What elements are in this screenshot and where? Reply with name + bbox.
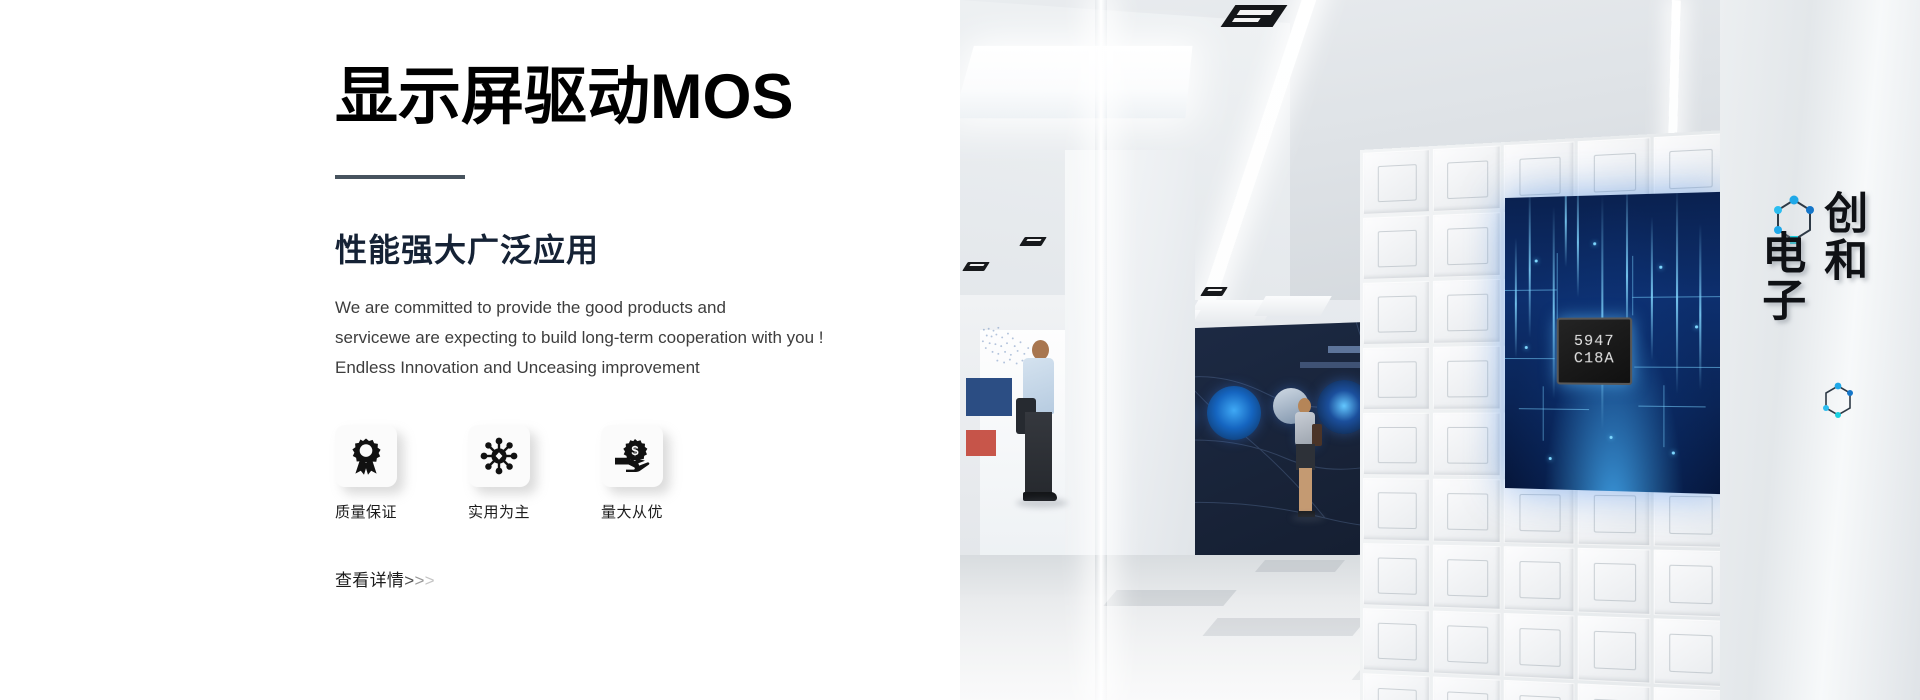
description-line-3: Endless Innovation and Unceasing improve… [335,353,915,383]
person-head [1032,340,1049,360]
feature-item-quality[interactable]: 质量保证 [335,425,410,522]
description-line-2: servicewe are expecting to build long-te… [335,323,915,353]
relief-brick [1363,478,1430,541]
floor-tile [1255,560,1345,572]
relief-brick [1504,613,1574,680]
relief-brick [1504,546,1574,612]
chevron-right-icon-3: > [425,571,435,590]
award-badge-icon [348,437,384,475]
wall-info-board-red [966,430,996,456]
relief-brick [1504,680,1574,700]
svg-text:$: $ [631,443,639,458]
chip-label-line-2: C18A [1574,351,1615,368]
person-shadow [1291,514,1325,522]
relief-brick [1653,549,1727,617]
chevron-right-icon-2: > [414,571,424,590]
feature-label: 量大从优 [601,501,663,522]
view-details-label: 查看详情 [335,571,404,590]
wall-sign-text-left: 电子 [1756,230,1802,324]
relief-brick [1433,346,1501,410]
title-divider [335,175,465,179]
relief-brick [1363,673,1430,700]
feature-icon-box [335,425,397,487]
banner-content: 显示屏驱动MOS 性能强大广泛应用 We are committed to pr… [335,62,915,591]
wall-pillar [1065,150,1195,570]
relief-brick [1433,611,1501,677]
hand-money-gear-icon: $ [613,438,651,474]
chevron-right-icon-1: > [404,571,414,590]
relief-brick [1363,149,1430,215]
hanging-panel [1254,296,1332,316]
person-businessman [1010,340,1070,520]
relief-brick [1578,548,1650,615]
person-handbag [1312,424,1322,446]
relief-brick [1578,683,1650,700]
person-skirt [1296,444,1315,470]
feature-item-practical[interactable]: 实用为主 [468,425,543,522]
relief-brick [1433,479,1501,543]
relief-brick [1653,687,1727,700]
relief-brick [1653,618,1727,687]
showroom-interior-photo: 5947 C18A 创和 电子 [960,0,1920,700]
person-shadow [1016,498,1068,508]
banner-description: We are committed to provide the good pro… [335,293,915,383]
relief-brick [1363,543,1430,607]
chip-graphic: 5947 C18A [1557,317,1632,385]
relief-brick [1363,413,1430,476]
relief-brick [1578,616,1650,684]
page-title: 显示屏驱动MOS [335,62,915,133]
relief-brick [1433,676,1501,700]
product-banner: 显示屏驱动MOS 性能强大广泛应用 We are committed to pr… [0,0,1920,700]
person-legs [1299,468,1312,514]
skylight-panel [960,46,1192,118]
feature-label: 质量保证 [335,501,397,522]
relief-brick [1363,281,1430,345]
banner-subtitle: 性能强大广泛应用 [335,225,915,271]
chip-label-line-1: 5947 [1574,334,1615,351]
feature-icon-box [468,425,530,487]
feature-label: 实用为主 [468,501,530,522]
view-details-link[interactable]: 查看详情>>> [335,566,435,591]
person-legs [1025,412,1052,496]
relief-brick [1363,347,1430,410]
person-businesswoman [1285,398,1325,526]
relief-brick [1433,279,1501,344]
wall-sign-text-right: 创和 [1818,190,1864,284]
led-video-wall: 5947 C18A [1505,192,1726,495]
relief-brick [1363,215,1430,280]
relief-brick [1433,145,1501,212]
wall-edge-light [1095,0,1107,700]
signage-wall [1720,0,1920,700]
feature-list: 质量保证 [335,425,915,522]
banner-text-panel: 显示屏驱动MOS 性能强大广泛应用 We are committed to pr… [0,0,960,700]
feature-icon-box: $ [601,425,663,487]
relief-brick [1363,608,1430,673]
description-line-1: We are committed to provide the good pro… [335,293,915,323]
relief-brick [1433,212,1501,278]
hexagon-molecule-icon-small [1820,380,1856,426]
wall-info-board-blue [966,378,1012,416]
feature-item-bulk-discount[interactable]: $ 量大从优 [601,425,676,522]
network-hub-icon [480,437,518,475]
exhibit-circle-chip [1207,386,1261,440]
relief-brick [1433,545,1501,610]
relief-brick [1433,413,1501,477]
